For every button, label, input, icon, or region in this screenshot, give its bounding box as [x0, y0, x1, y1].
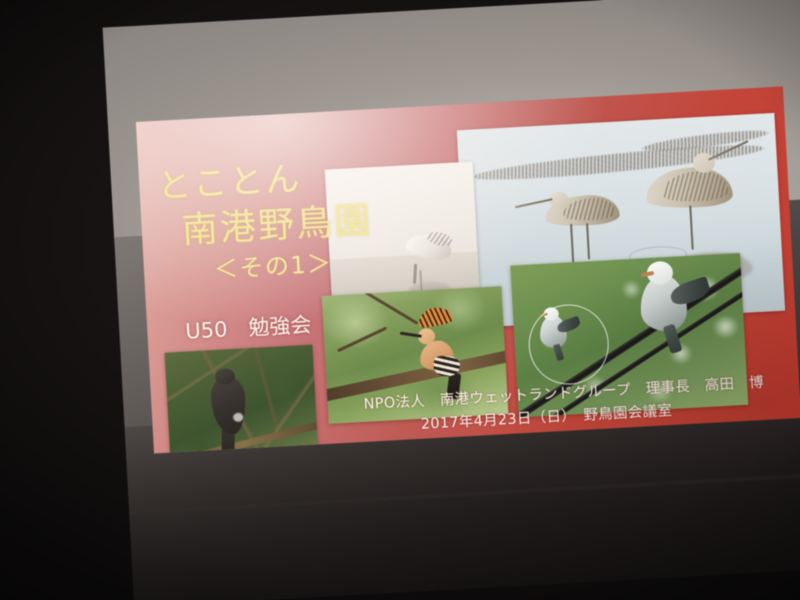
slide-title-line2: 南港野鳥園: [180, 191, 373, 253]
godwit-leg: [570, 224, 574, 262]
photo-sparrowhawk-in-tree: [165, 345, 320, 454]
godwit-leg: [689, 206, 693, 250]
projected-slide-photograph: とことん 南港野鳥園 ＜その1＞ U50 勉強会 NPO法人 南港ウェットランド…: [0, 0, 800, 600]
slide-subtitle: ＜その1＞: [213, 243, 333, 284]
godwit-bill: [515, 198, 553, 208]
godwit-leg-second: [586, 223, 590, 259]
meeting-label: U50 勉強会: [185, 309, 313, 346]
presentation-slide: とことん 南港野鳥園 ＜その1＞ U50 勉強会 NPO法人 南港ウェットランド…: [136, 86, 800, 453]
projection-screen: とことん 南港野鳥園 ＜その1＞ U50 勉強会 NPO法人 南港ウェットランド…: [103, 0, 800, 600]
